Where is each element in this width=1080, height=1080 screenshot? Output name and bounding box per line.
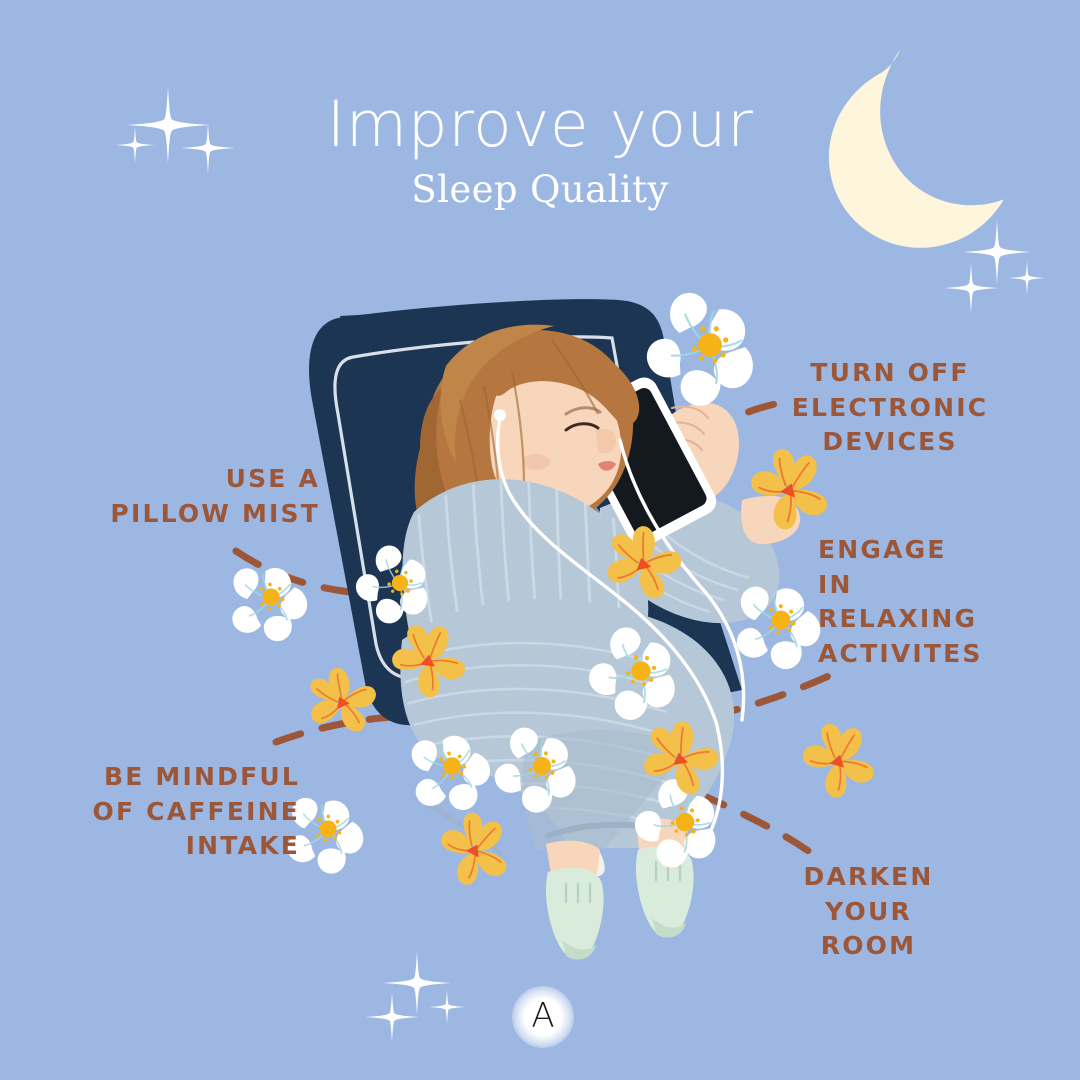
tip-turn-off-electronic-devices: TURN OFF ELECTRONIC DEVICES <box>780 356 1000 460</box>
white-flowers <box>222 286 825 881</box>
brand-logo[interactable]: A <box>512 986 574 1048</box>
yellow-flowers <box>297 440 884 899</box>
tip-darken-your-room: DARKEN YOUR ROOM <box>756 860 981 964</box>
logo-letter-a: A <box>512 986 574 1048</box>
tip-be-mindful-of-caffeine-intake: BE MINDFUL OF CAFFEINE INTAKE <box>78 760 300 864</box>
tip-engage-in-relaxing-activites: ENGAGE IN RELAXING ACTIVITES <box>818 533 993 671</box>
tip-use-a-pillow-mist: USE A PILLOW MIST <box>90 462 320 531</box>
sleep-quality-poster: Improve your Sleep Quality TURN OFF ELEC… <box>0 0 1080 1080</box>
